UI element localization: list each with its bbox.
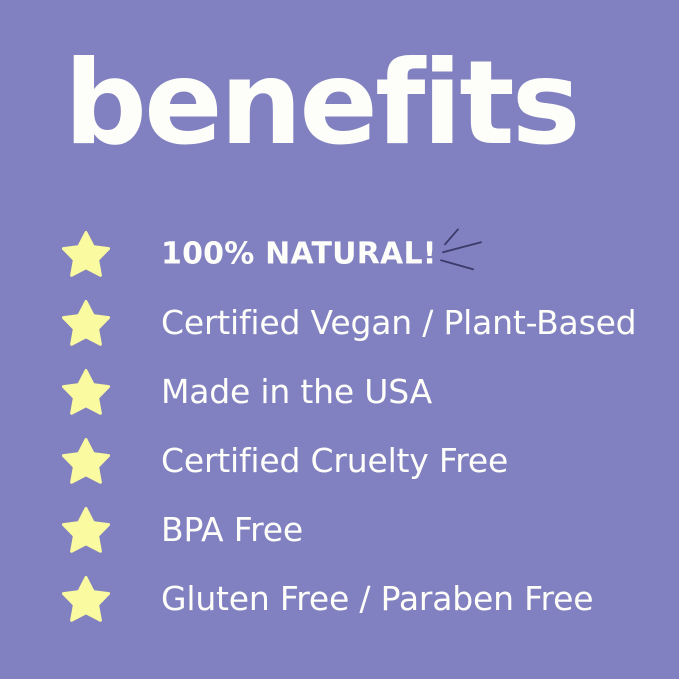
star-icon [62, 299, 110, 347]
list-item-label: BPA Free [161, 511, 303, 547]
list-item-label: Gluten Free / Paraben Free [161, 580, 593, 616]
list-item-label: Certified Cruelty Free [161, 442, 508, 478]
page-title: benefits [64, 46, 578, 162]
star-icon [62, 437, 110, 485]
star-icon [62, 230, 110, 278]
sparkle-lines-icon [437, 224, 491, 278]
benefits-poster: benefits 100% NATURAL! [0, 0, 679, 679]
list-item: BPA Free [0, 495, 679, 564]
star-icon [62, 575, 110, 623]
star-icon [62, 506, 110, 554]
list-item: Certified Vegan / Plant-Based [0, 288, 679, 357]
list-item: Certified Cruelty Free [0, 426, 679, 495]
list-item: Gluten Free / Paraben Free [0, 564, 679, 633]
star-icon [62, 368, 110, 416]
list-item-label: Made in the USA [161, 373, 432, 409]
list-item-label: Certified Vegan / Plant-Based [161, 304, 636, 340]
list-item: Made in the USA [0, 357, 679, 426]
list-item-label: 100% NATURAL! [161, 237, 437, 270]
benefits-list: 100% NATURAL! Certified Vegan / Plant-Ba… [0, 219, 679, 633]
list-item: 100% NATURAL! [0, 219, 679, 288]
